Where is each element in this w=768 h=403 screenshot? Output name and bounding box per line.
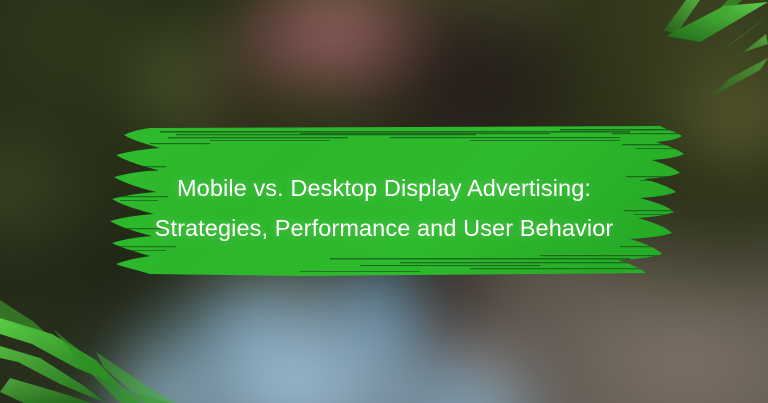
banner-title: Mobile vs. Desktop Display Advertising: …: [108, 168, 660, 248]
banner-title-line-2: Strategies, Performance and User Behavio…: [108, 208, 660, 248]
banner-title-line-1: Mobile vs. Desktop Display Advertising:: [108, 168, 660, 208]
featured-image-banner: Mobile vs. Desktop Display Advertising: …: [0, 0, 768, 403]
